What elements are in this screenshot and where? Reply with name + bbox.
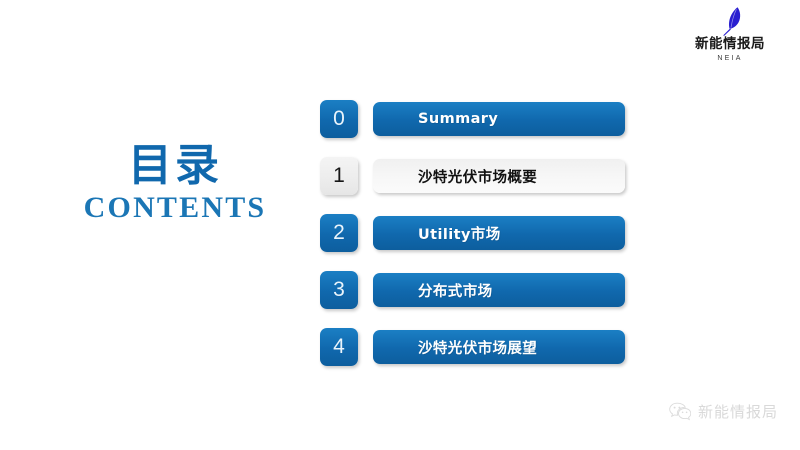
contents-item-label: 沙特光伏市场概要	[373, 166, 537, 187]
page-title: 目录 CONTENTS	[60, 143, 290, 224]
contents-item-number: 3	[320, 271, 358, 309]
contents-item-1[interactable]: 1 沙特光伏市场概要	[320, 157, 625, 195]
page-title-cn: 目录	[60, 143, 290, 189]
contents-item-2[interactable]: 2 Utility市场	[320, 214, 625, 252]
contents-item-4[interactable]: 4 沙特光伏市场展望	[320, 328, 625, 366]
page-title-en: CONTENTS	[60, 191, 290, 224]
contents-item-label: 沙特光伏市场展望	[373, 337, 537, 358]
watermark: 新能情报局	[669, 401, 778, 422]
contents-item-number: 0	[320, 100, 358, 138]
contents-item-label: 分布式市场	[373, 280, 493, 301]
feather-quill-icon	[680, 6, 780, 36]
contents-list: 0 Summary 1 沙特光伏市场概要 2 Utility市场 3 分布式市场…	[320, 100, 625, 366]
contents-item-bar[interactable]: 分布式市场	[373, 273, 625, 307]
contents-item-0[interactable]: 0 Summary	[320, 100, 625, 138]
contents-item-bar[interactable]: Utility市场	[373, 216, 625, 250]
slide-canvas: 新能情报局 NEIA 目录 CONTENTS 0 Summary 1 沙特光伏市…	[0, 0, 800, 450]
contents-item-bar[interactable]: 沙特光伏市场展望	[373, 330, 625, 364]
watermark-text: 新能情报局	[698, 401, 778, 422]
brand-logo: 新能情报局 NEIA	[680, 6, 780, 62]
contents-item-number: 1	[320, 157, 358, 195]
contents-item-number: 4	[320, 328, 358, 366]
contents-item-label: Summary	[373, 111, 498, 127]
contents-item-number: 2	[320, 214, 358, 252]
contents-item-label: Utility市场	[373, 223, 501, 244]
wechat-icon	[669, 402, 691, 421]
contents-item-bar[interactable]: 沙特光伏市场概要	[373, 159, 625, 193]
brand-name-cn: 新能情报局	[680, 38, 780, 52]
contents-item-3[interactable]: 3 分布式市场	[320, 271, 625, 309]
brand-name-en: NEIA	[680, 55, 780, 62]
contents-item-bar[interactable]: Summary	[373, 102, 625, 136]
